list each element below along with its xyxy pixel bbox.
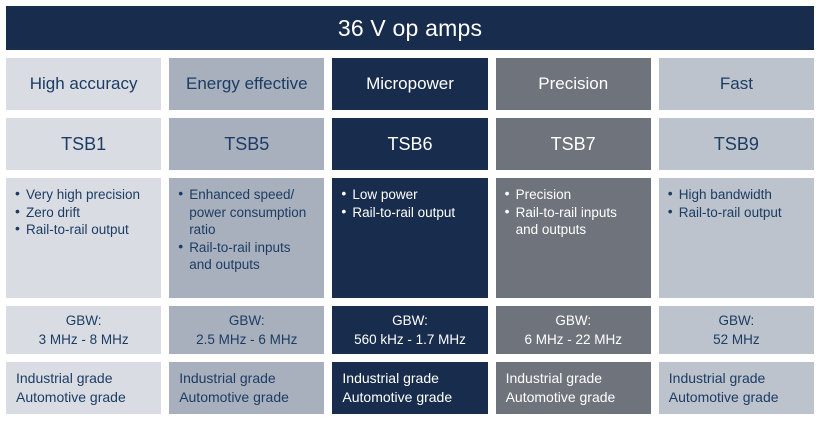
gbw-cell-tsb7: GBW: 6 MHz - 22 MHz [496, 306, 651, 354]
category-label: High accuracy [30, 74, 138, 94]
grade-industrial: Industrial grade [342, 369, 477, 388]
category-cell-fast[interactable]: Fast [659, 58, 814, 110]
grade-cell-tsb5: Industrial grade Automotive grade [169, 362, 324, 414]
gbw-cell-tsb1: GBW: 3 MHz - 8 MHz [6, 306, 161, 354]
list-item: Rail-to-rail inputs and outputs [178, 239, 315, 274]
gbw-value: 2.5 MHz - 6 MHz [196, 330, 297, 349]
list-item: Low power [341, 186, 478, 204]
grade-industrial: Industrial grade [506, 369, 641, 388]
category-label: Energy effective [186, 74, 308, 94]
category-label: Fast [720, 74, 753, 94]
grade-automotive: Automotive grade [506, 388, 641, 407]
list-item: High bandwidth [668, 186, 805, 204]
feature-list: Very high precision Zero drift Rail-to-r… [15, 186, 152, 239]
grade-automotive: Automotive grade [342, 388, 477, 407]
feature-list: Precision Rail-to-rail inputs and output… [505, 186, 642, 239]
features-cell-tsb6: Low power Rail-to-rail output [332, 178, 487, 298]
grade-row: Industrial grade Automotive grade Indust… [6, 362, 814, 414]
category-header-row: High accuracy Energy effective Micropowe… [6, 58, 814, 110]
grade-automotive: Automotive grade [16, 388, 151, 407]
gbw-label: GBW: [392, 311, 428, 330]
part-label: TSB7 [551, 134, 596, 155]
grade-cell-tsb7: Industrial grade Automotive grade [496, 362, 651, 414]
features-cell-tsb9: High bandwidth Rail-to-rail output [659, 178, 814, 298]
list-item: Very high precision [15, 186, 152, 204]
category-cell-high-accuracy[interactable]: High accuracy [6, 58, 161, 110]
category-label: Precision [538, 74, 608, 94]
features-cell-tsb7: Precision Rail-to-rail inputs and output… [496, 178, 651, 298]
part-label: TSB5 [224, 134, 269, 155]
grade-automotive: Automotive grade [669, 388, 804, 407]
part-cell-tsb9[interactable]: TSB9 [659, 118, 814, 170]
category-cell-energy-effective[interactable]: Energy effective [169, 58, 324, 110]
part-label: TSB9 [714, 134, 759, 155]
gbw-label: GBW: [229, 311, 265, 330]
grade-cell-tsb1: Industrial grade Automotive grade [6, 362, 161, 414]
category-cell-precision[interactable]: Precision [496, 58, 651, 110]
gbw-label: GBW: [66, 311, 102, 330]
grade-industrial: Industrial grade [179, 369, 314, 388]
part-cell-tsb7[interactable]: TSB7 [496, 118, 651, 170]
grade-cell-tsb9: Industrial grade Automotive grade [659, 362, 814, 414]
list-item: Rail-to-rail output [341, 204, 478, 222]
features-row: Very high precision Zero drift Rail-to-r… [6, 178, 814, 298]
op-amp-portfolio-chart: 36 V op amps High accuracy Energy effect… [0, 0, 820, 433]
gbw-cell-tsb5: GBW: 2.5 MHz - 6 MHz [169, 306, 324, 354]
feature-list: High bandwidth Rail-to-rail output [668, 186, 805, 221]
part-cell-tsb6[interactable]: TSB6 [332, 118, 487, 170]
part-cell-tsb5[interactable]: TSB5 [169, 118, 324, 170]
gbw-value: 52 MHz [713, 330, 760, 349]
list-item: Rail-to-rail output [668, 204, 805, 222]
gbw-cell-tsb9: GBW: 52 MHz [659, 306, 814, 354]
features-cell-tsb1: Very high precision Zero drift Rail-to-r… [6, 178, 161, 298]
category-label: Micropower [366, 74, 454, 94]
grade-industrial: Industrial grade [16, 369, 151, 388]
page-title: 36 V op amps [338, 15, 482, 42]
grade-cell-tsb6: Industrial grade Automotive grade [332, 362, 487, 414]
list-item: Rail-to-rail output [15, 221, 152, 239]
gbw-cell-tsb6: GBW: 560 kHz - 1.7 MHz [332, 306, 487, 354]
feature-list: Enhanced speed/ power consumption ratio … [178, 186, 315, 274]
gbw-row: GBW: 3 MHz - 8 MHz GBW: 2.5 MHz - 6 MHz … [6, 306, 814, 354]
gbw-value: 3 MHz - 8 MHz [39, 330, 129, 349]
features-cell-tsb5: Enhanced speed/ power consumption ratio … [169, 178, 324, 298]
feature-list: Low power Rail-to-rail output [341, 186, 478, 221]
list-item: Enhanced speed/ power consumption ratio [178, 186, 315, 239]
grade-automotive: Automotive grade [179, 388, 314, 407]
gbw-label: GBW: [555, 311, 591, 330]
gbw-value: 6 MHz - 22 MHz [524, 330, 622, 349]
part-cell-tsb1[interactable]: TSB1 [6, 118, 161, 170]
list-item: Rail-to-rail inputs and outputs [505, 204, 642, 239]
gbw-value: 560 kHz - 1.7 MHz [354, 330, 466, 349]
part-label: TSB1 [61, 134, 106, 155]
grade-industrial: Industrial grade [669, 369, 804, 388]
list-item: Zero drift [15, 204, 152, 222]
part-label: TSB6 [387, 134, 432, 155]
chart-title-bar: 36 V op amps [6, 6, 814, 50]
list-item: Precision [505, 186, 642, 204]
gbw-label: GBW: [719, 311, 755, 330]
part-number-row: TSB1 TSB5 TSB6 TSB7 TSB9 [6, 118, 814, 170]
category-cell-micropower[interactable]: Micropower [332, 58, 487, 110]
